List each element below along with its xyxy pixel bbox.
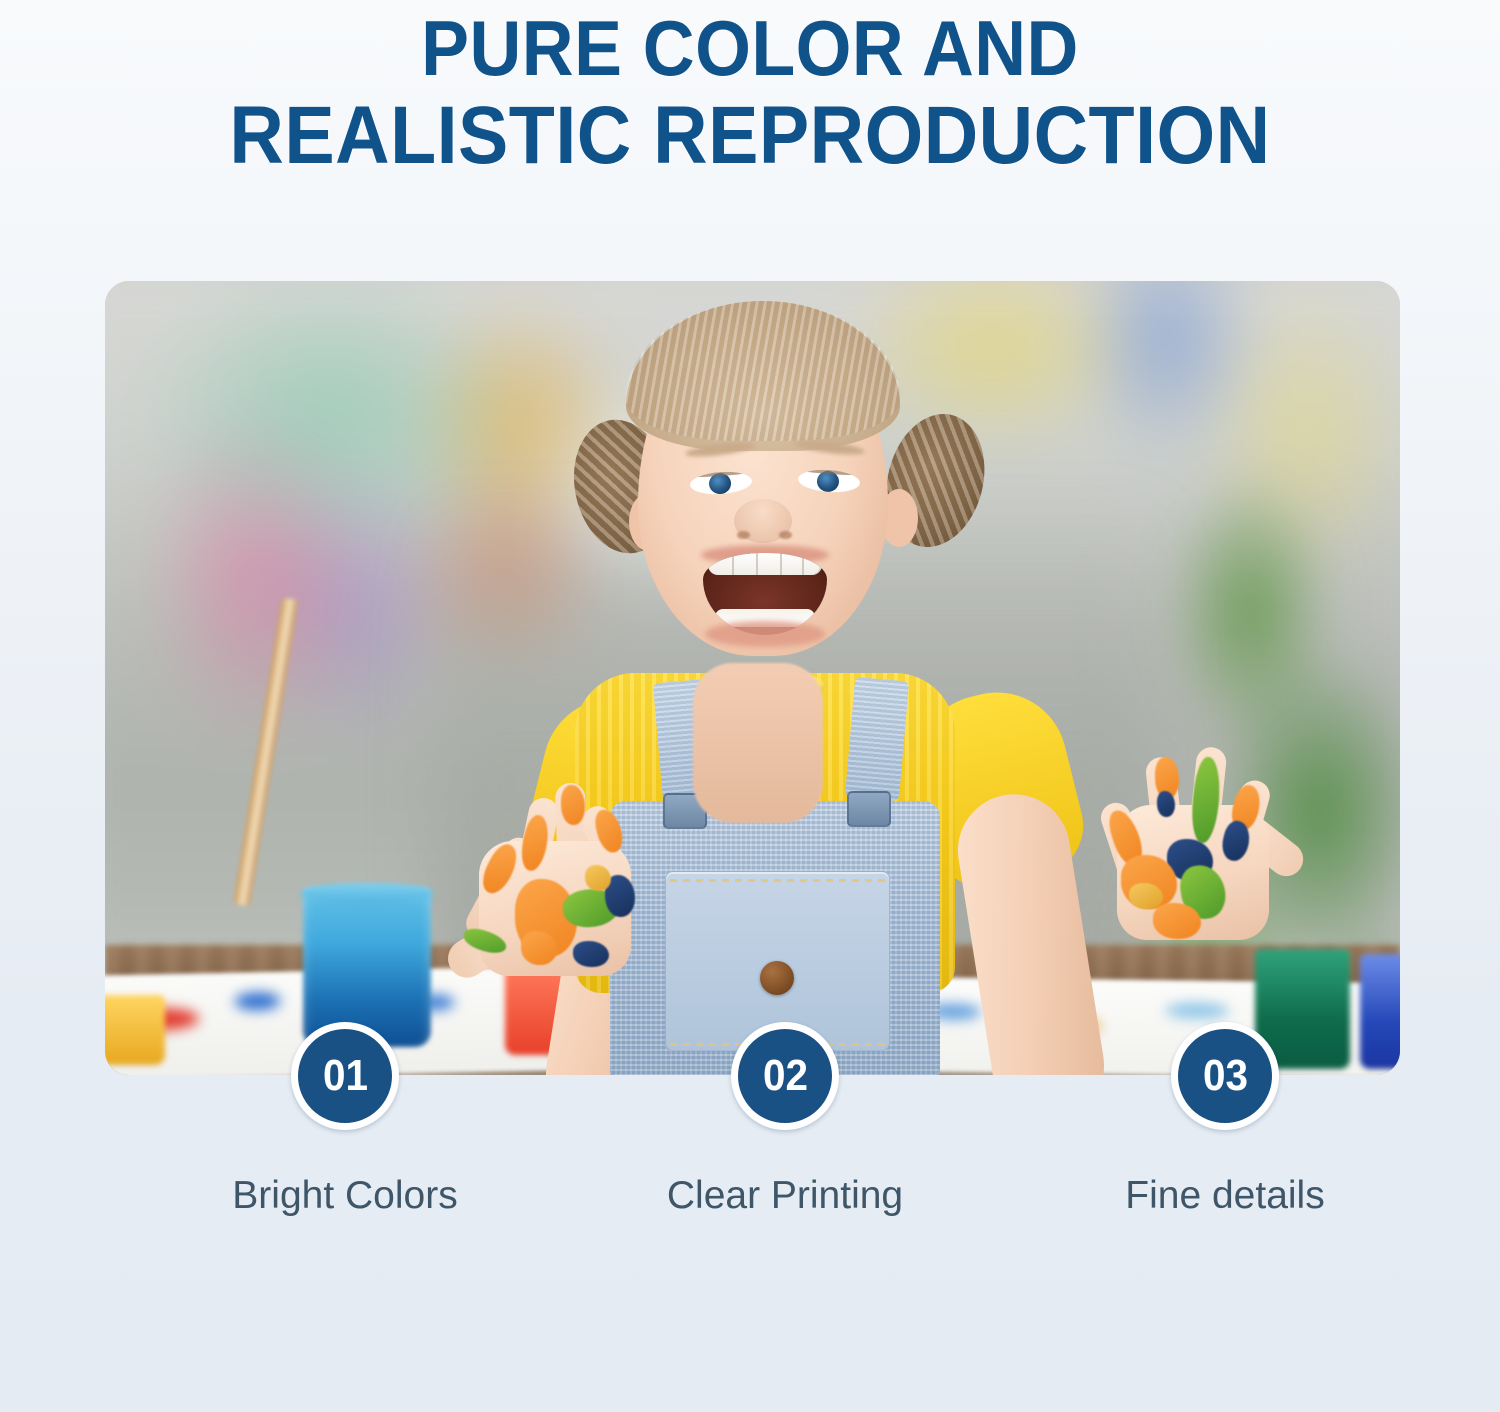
tooth-gap: [802, 553, 804, 575]
paint-blob-navy: [573, 941, 609, 967]
badge-circle-02: 02: [731, 1022, 839, 1130]
tooth-gap: [732, 553, 734, 575]
feature-item-03: 03 Fine details: [1075, 1022, 1375, 1218]
paint-blob-yellow: [585, 865, 611, 891]
paint-blob-orange: [521, 931, 557, 965]
badge-number-01: 01: [322, 1054, 367, 1098]
painted-hand-left: [457, 779, 657, 989]
strap-texture: [845, 677, 909, 801]
painted-hand-right: [1095, 743, 1295, 953]
badge-circle-01: 01: [291, 1022, 399, 1130]
tooth-gap: [780, 553, 782, 575]
feature-badges: 01 Bright Colors 02 Clear Printing 03 Fi…: [105, 1022, 1400, 1282]
overall-buckle-right: [847, 791, 891, 827]
upper-teeth: [708, 553, 822, 575]
stitch-seam: [670, 879, 885, 882]
feature-item-01: 01 Bright Colors: [195, 1022, 495, 1218]
paint-dot-navy: [1157, 791, 1175, 817]
tooth-gap: [756, 553, 758, 575]
paint-blob-orange: [1153, 903, 1201, 939]
feature-item-02: 02 Clear Printing: [635, 1022, 935, 1218]
badge-number-03: 03: [1202, 1054, 1247, 1098]
nostril-left: [737, 531, 750, 539]
child-subject: [105, 281, 1400, 1075]
overall-button: [760, 961, 794, 995]
badge-number-02: 02: [762, 1054, 807, 1098]
badge-circle-03: 03: [1171, 1022, 1279, 1130]
headline-line-1: PURE COLOR AND: [60, 4, 1440, 92]
neck: [693, 663, 823, 823]
overall-strap-right: [845, 677, 909, 801]
page-title: PURE COLOR AND REALISTIC REPRODUCTION: [60, 4, 1440, 180]
badge-label-03: Fine details: [1075, 1174, 1375, 1218]
hero-image: [105, 281, 1400, 1075]
paint-blob-yellow: [1129, 883, 1163, 909]
badge-label-01: Bright Colors: [195, 1174, 495, 1218]
badge-label-02: Clear Printing: [635, 1174, 935, 1218]
paint-smear-orange: [561, 785, 585, 825]
lower-lip: [705, 621, 825, 647]
headline-line-2: REALISTIC REPRODUCTION: [60, 92, 1440, 180]
nostril-right: [779, 531, 792, 539]
hair-strand-texture: [626, 301, 900, 441]
